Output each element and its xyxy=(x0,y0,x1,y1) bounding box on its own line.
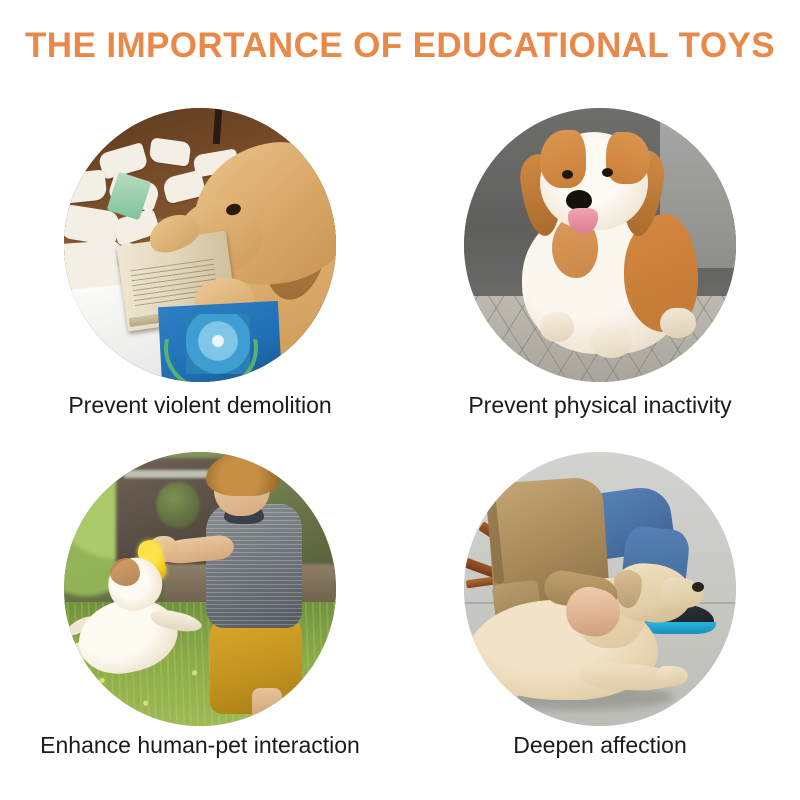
photo-person-petting-labrador xyxy=(464,452,736,726)
photo-dog-destroying-books xyxy=(64,108,336,382)
puppy-head-patch xyxy=(110,558,140,586)
beagle-nose xyxy=(566,190,592,210)
benefit-caption: Deepen affection xyxy=(400,732,800,759)
beagle-paw-right xyxy=(660,308,696,338)
benefit-caption: Enhance human-pet interaction xyxy=(0,732,400,759)
blurred-bush xyxy=(156,482,200,528)
benefit-card-deepen-affection: Deepen affection xyxy=(400,440,800,792)
boy-curly-hair xyxy=(206,452,280,496)
photo-boy-playing-with-puppy xyxy=(64,452,336,726)
benefit-card-prevent-physical-inactivity: Prevent physical inactivity xyxy=(400,96,800,448)
beagle-eye-left xyxy=(562,170,573,179)
infographic-page: THE IMPORTANCE OF EDUCATIONAL TOYS xyxy=(0,0,800,800)
beagle-eye-right xyxy=(602,168,613,177)
benefit-card-prevent-violent-demolition: Prevent violent demolition xyxy=(0,96,400,448)
beagle-head-marking-left xyxy=(540,130,586,188)
photo-overweight-beagle xyxy=(464,108,736,382)
benefits-grid: Prevent violent demolition xyxy=(0,96,800,800)
benefit-caption: Prevent violent demolition xyxy=(0,392,400,419)
beagle-paw-left xyxy=(540,312,574,342)
benefit-caption: Prevent physical inactivity xyxy=(400,392,800,419)
page-title: THE IMPORTANCE OF EDUCATIONAL TOYS xyxy=(0,26,800,66)
beagle-paw-center xyxy=(590,324,632,358)
labrador-nose xyxy=(692,582,704,592)
benefit-card-enhance-human-pet-interaction: Enhance human-pet interaction xyxy=(0,440,400,792)
boy-leg xyxy=(252,688,282,726)
labrador-paw xyxy=(656,666,688,686)
